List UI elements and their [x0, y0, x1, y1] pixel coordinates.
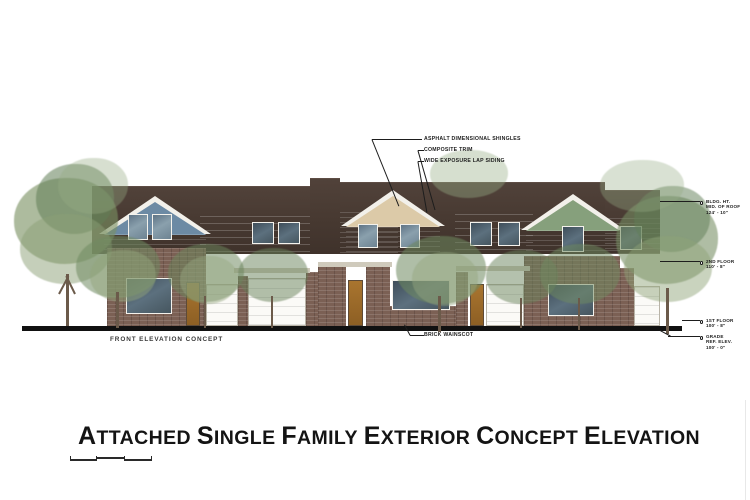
brick-pier-b: [306, 272, 318, 326]
title-word-6-body: LEVATION: [601, 427, 700, 449]
ground-line: [22, 326, 682, 331]
leader-wainscot: [410, 335, 424, 336]
datum-line-second-floor: [660, 261, 700, 262]
callout-brick-wainscot: BRICK WAINSCOT: [424, 332, 473, 338]
leader-shingles: [372, 139, 422, 140]
front-elevation-label: FRONT ELEVATION CONCEPT: [110, 336, 223, 343]
datum-bldg-height-text: BLDG. HT. MID. OF ROOF 124' - 10": [706, 199, 740, 215]
window-upper-left-4: [278, 222, 300, 244]
drawing-sheet: ASPHALT DIMENSIONAL SHINGLES COMPOSITE T…: [0, 0, 750, 500]
title-word-1-body: TTACHED: [96, 427, 191, 449]
callout-lap-siding: WIDE EXPOSURE LAP SIDING: [424, 158, 505, 164]
window-upper-left-2: [152, 214, 172, 240]
scale-segment-3: [124, 459, 152, 461]
scale-segment-2: [96, 457, 124, 459]
datum-marker-dot: [700, 201, 703, 204]
title-word-1-initial: A: [78, 422, 96, 450]
window-upper-right-1: [470, 222, 492, 246]
title-word-5-initial: C: [476, 422, 494, 450]
title-word-2-initial: S: [197, 422, 214, 450]
scale-tick-2: [124, 456, 125, 461]
scale-tick-0: [70, 456, 71, 461]
datum-first-floor-text: 1ST FLOOR 100' - 8": [706, 318, 734, 329]
scale-tick-1: [96, 456, 97, 461]
leader-trim: [418, 150, 424, 151]
window-upper-left-3: [252, 222, 274, 244]
window-upper-right-2: [498, 222, 520, 246]
sheet-title: ATTACHED SINGLE FAMILY EXTERIOR CONCEPT …: [78, 422, 700, 451]
scale-tick-3: [151, 456, 152, 461]
brick-wainscot-center: [318, 262, 346, 326]
datum-second-floor-text: 2ND FLOOR 110' - 8": [706, 259, 734, 270]
callout-composite-trim: COMPOSITE TRIM: [424, 147, 473, 153]
title-word-5-body: ONCEPT: [495, 427, 579, 449]
datum-marker-dot: [700, 261, 703, 264]
datum-line-first-floor: [682, 320, 700, 321]
roof-plane-center: [310, 178, 340, 254]
front-elevation-drawing: ASPHALT DIMENSIONAL SHINGLES COMPOSITE T…: [0, 0, 750, 400]
title-word-2-body: INGLE: [214, 427, 276, 449]
leader-siding: [418, 161, 424, 162]
title-word-6-initial: E: [584, 422, 601, 450]
porch-canopy-center: [318, 262, 392, 267]
title-word-4-body: XTERIOR: [381, 427, 470, 449]
datum-marker-dot: [700, 336, 703, 339]
entry-door-center: [348, 280, 363, 326]
graphic-scale-bar: [70, 455, 152, 463]
scale-segment-1: [70, 459, 96, 461]
datum-grade-text: GRADE REF. ELEV. 100' - 0": [706, 334, 732, 350]
window-upper-center-1: [358, 224, 378, 248]
datum-line-bldg-height: [660, 201, 700, 202]
title-word-4-initial: E: [364, 422, 381, 450]
datum-line-grade: [668, 336, 700, 337]
callout-asphalt-shingles: ASPHALT DIMENSIONAL SHINGLES: [424, 136, 521, 142]
title-word-3-body: AMILY: [297, 427, 358, 449]
datum-marker-dot: [700, 320, 703, 323]
brick-wainscot-center-b: [366, 266, 390, 326]
title-word-3-initial: F: [281, 422, 297, 450]
